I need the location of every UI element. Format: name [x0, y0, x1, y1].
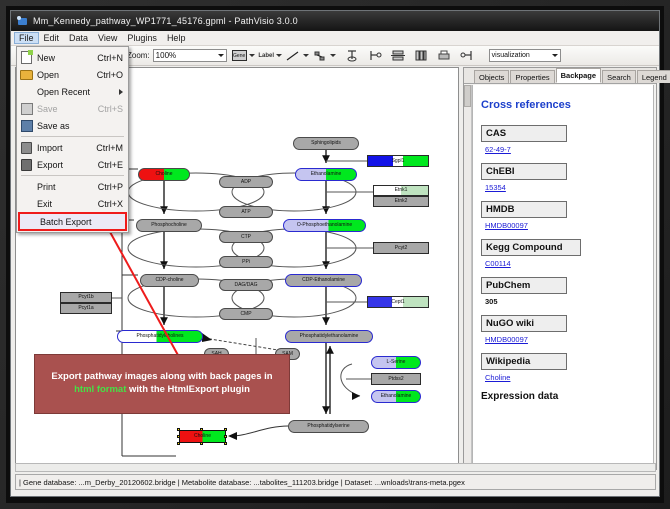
- blank-icon: [19, 85, 34, 98]
- printer-icon: [437, 49, 451, 62]
- gene-etnk1[interactable]: Etnk1: [373, 185, 429, 196]
- xref-header-kegg-compound: Kegg Compound: [481, 239, 581, 256]
- selection-handle[interactable]: [224, 442, 227, 445]
- menu-item-save-as[interactable]: Save as: [17, 117, 128, 134]
- open-folder-icon: [19, 68, 34, 81]
- interaction-icon: [313, 50, 327, 62]
- node-atp[interactable]: ATP: [219, 206, 273, 218]
- tab-objects[interactable]: Objects: [474, 70, 509, 83]
- node-phosphatidylserine[interactable]: Phosphatidylserine: [288, 420, 369, 433]
- menu-item-export-label: Export: [34, 160, 98, 170]
- menu-item-import[interactable]: Import Ctrl+M: [17, 139, 128, 156]
- visualization-combobox[interactable]: visualization: [489, 49, 561, 62]
- menu-item-save-label: Save: [34, 104, 98, 114]
- node-ethanolamine[interactable]: Ethanolamine: [295, 168, 357, 181]
- menu-item-export-accel: Ctrl+E: [98, 160, 128, 170]
- xref-value-chebi[interactable]: 15354: [485, 183, 645, 192]
- label-chevron[interactable]: [275, 48, 281, 63]
- menu-item-save: Save Ctrl+S: [17, 100, 128, 117]
- menu-item-open-recent-label: Open Recent: [34, 87, 119, 97]
- export-icon: [19, 158, 34, 171]
- backpage-content: Cross references CAS 62-49-7 ChEBI 15354…: [472, 85, 654, 468]
- cross-references-title: Cross references: [481, 99, 645, 111]
- chevron-down-icon: [330, 54, 336, 57]
- line-chevron[interactable]: [302, 48, 308, 63]
- tab-legend[interactable]: Legend: [637, 70, 670, 83]
- menu-item-exit[interactable]: Exit Ctrl+X: [17, 195, 128, 212]
- xref-header-nugo-wiki: NuGO wiki: [481, 315, 567, 332]
- screenshot-root: Mm_Kennedy_pathway_WP1771_45176.gpml - P…: [0, 0, 670, 509]
- gene-pcyt1a[interactable]: Pcyt1a: [60, 303, 112, 314]
- xref-header-pubchem: PubChem: [481, 277, 567, 294]
- interaction-chevron[interactable]: [329, 48, 335, 63]
- zoom-label: Zoom:: [127, 51, 150, 60]
- blank-icon: [19, 197, 34, 210]
- window-title: Mm_Kennedy_pathway_WP1771_45176.gpml - P…: [33, 16, 298, 26]
- xref-value-cas[interactable]: 62-49-7: [485, 145, 645, 154]
- menu-item-exit-label: Exit: [34, 199, 98, 209]
- align-right-icon: [460, 49, 474, 62]
- gene-sgpl1[interactable]: Sgpl1: [367, 155, 429, 167]
- menu-item-open-accel: Ctrl+O: [97, 70, 128, 80]
- menu-item-new-accel: Ctrl+N: [97, 53, 128, 63]
- distribute-vertical-icon: [391, 49, 405, 62]
- node-ctp[interactable]: CTP: [219, 231, 273, 243]
- blank-icon: [22, 215, 37, 228]
- menu-plugins[interactable]: Plugins: [122, 32, 162, 44]
- xref-header-cas: CAS: [481, 125, 567, 142]
- menu-item-import-label: Import: [34, 143, 96, 153]
- distribute-vertical-button[interactable]: [391, 48, 406, 63]
- status-bar: | Gene database: ...m_Derby_20120602.bri…: [15, 474, 656, 490]
- xref-header-hmdb: HMDB: [481, 201, 567, 218]
- interaction-dropdown-button[interactable]: [313, 48, 328, 63]
- node-cdp-choline[interactable]: CDP-choline: [140, 274, 199, 287]
- same-width-button[interactable]: [414, 48, 429, 63]
- chevron-down-icon: [303, 54, 309, 57]
- align-left-icon: [368, 49, 382, 62]
- node-dag[interactable]: DAG/DAG: [219, 279, 273, 291]
- selection-handle[interactable]: [224, 435, 227, 438]
- node-cdp-ethanolamine[interactable]: CDP-Ethanolamine: [285, 274, 362, 287]
- selection-handle[interactable]: [224, 428, 227, 431]
- save-as-icon: [19, 119, 34, 132]
- print-button[interactable]: [437, 48, 452, 63]
- gene-etnk2[interactable]: Etnk2: [373, 196, 429, 207]
- side-panel-tabs: Objects Properties Backpage Search Legen…: [464, 68, 656, 84]
- menu-view[interactable]: View: [93, 32, 122, 44]
- import-icon: [19, 141, 34, 154]
- menu-item-new[interactable]: New Ctrl+N: [17, 49, 128, 66]
- gene-icon: Gene: [232, 50, 247, 61]
- title-bar: Mm_Kennedy_pathway_WP1771_45176.gpml - P…: [11, 11, 659, 31]
- node-phosphocholine[interactable]: Phosphocholine: [136, 219, 202, 232]
- tab-backpage[interactable]: Backpage: [556, 68, 601, 83]
- chevron-down-icon: [276, 54, 282, 57]
- gene-cept1[interactable]: Cept1: [367, 296, 429, 308]
- xref-value-hmdb[interactable]: HMDB00097: [485, 221, 645, 230]
- node-ethanolamine-bottom[interactable]: Ethanolamine: [371, 390, 421, 403]
- callout-text-after: with the HtmlExport plugin: [126, 384, 250, 395]
- pathvisio-icon: [17, 16, 28, 27]
- xref-header-wikipedia: Wikipedia: [481, 353, 567, 370]
- new-document-icon: [19, 51, 34, 64]
- menu-item-save-as-label: Save as: [34, 121, 123, 131]
- expression-data-title: Expression data: [481, 391, 645, 402]
- menu-help[interactable]: Help: [162, 32, 191, 44]
- align-top-button[interactable]: [345, 48, 360, 63]
- gene-pcyt1b[interactable]: Pcyt1b: [60, 292, 112, 303]
- chevron-down-icon: [218, 54, 224, 57]
- menu-separator: [21, 175, 124, 176]
- same-width-icon: [414, 49, 428, 62]
- side-panel: Objects Properties Backpage Search Legen…: [463, 67, 657, 470]
- file-menu-dropdown[interactable]: New Ctrl+N Open Ctrl+O Open Recent Save …: [16, 46, 129, 233]
- node-ppi[interactable]: PPi: [219, 256, 273, 268]
- align-right-button[interactable]: [460, 48, 475, 63]
- chevron-down-icon: [249, 54, 255, 57]
- status-text: | Gene database: ...m_Derby_20120602.bri…: [19, 478, 465, 487]
- menu-bar: File Edit Data View Plugins Help: [11, 31, 659, 46]
- menu-item-new-label: New: [34, 53, 97, 63]
- line-dropdown-button[interactable]: [286, 48, 301, 63]
- scrollbar-thumb[interactable]: [464, 85, 471, 107]
- datanode-dropdown-button[interactable]: Gene: [232, 48, 247, 63]
- node-cmp[interactable]: CMP: [219, 308, 273, 320]
- save-icon: [19, 102, 34, 115]
- menu-file[interactable]: File: [14, 32, 39, 44]
- gene-ptdss2[interactable]: Ptdss2: [371, 373, 421, 385]
- blank-icon: [19, 180, 34, 193]
- xref-value-pubchem: 305: [485, 297, 645, 306]
- menu-item-print[interactable]: Print Ctrl+P: [17, 178, 128, 195]
- zoom-combobox[interactable]: 100%: [153, 49, 227, 62]
- menu-item-batch-export[interactable]: Batch Export: [18, 212, 127, 231]
- node-phosphatidylcholines[interactable]: Phosphatidylcholines: [117, 330, 203, 343]
- annotation-callout: Export pathway images along with back pa…: [34, 354, 290, 414]
- selection-handle[interactable]: [177, 442, 180, 445]
- menu-item-export[interactable]: Export Ctrl+E: [17, 156, 128, 173]
- node-l-serine[interactable]: L-Serine: [371, 356, 421, 369]
- node-choline-top[interactable]: Choline: [138, 168, 190, 181]
- side-panel-scrollbar[interactable]: [464, 85, 472, 468]
- menu-item-print-label: Print: [34, 182, 98, 192]
- menu-item-exit-accel: Ctrl+X: [98, 199, 128, 209]
- node-adp[interactable]: ADP: [219, 176, 273, 188]
- line-icon: [286, 50, 300, 62]
- menu-item-print-accel: Ctrl+P: [98, 182, 128, 192]
- gene-pcyt2[interactable]: Pcyt2: [373, 242, 429, 254]
- chevron-down-icon: [552, 54, 558, 57]
- xref-value-nugo-wiki[interactable]: HMDB00097: [485, 335, 645, 344]
- label-icon: Label: [258, 53, 274, 59]
- visualization-value: visualization: [492, 52, 530, 59]
- selection-handle[interactable]: [177, 435, 180, 438]
- node-phosphatidylethanolamine[interactable]: Phosphatidylethanolamine: [285, 330, 373, 343]
- label-dropdown-button[interactable]: Label: [259, 48, 274, 63]
- canvas-horizontal-scrollbar[interactable]: [15, 463, 656, 472]
- xref-value-kegg-compound[interactable]: C00114: [485, 259, 645, 268]
- pathvisio-application-window: Mm_Kennedy_pathway_WP1771_45176.gpml - P…: [10, 10, 660, 497]
- zoom-value: 100%: [156, 51, 176, 60]
- menu-edit[interactable]: Edit: [39, 32, 65, 44]
- xref-value-wikipedia[interactable]: Choline: [485, 373, 645, 382]
- tab-properties[interactable]: Properties: [510, 70, 554, 83]
- callout-text-before: Export pathway images along with back pa…: [51, 371, 272, 382]
- menu-item-batch-export-label: Batch Export: [37, 217, 125, 227]
- menu-item-save-accel: Ctrl+S: [98, 104, 128, 114]
- menu-separator: [21, 136, 124, 137]
- selection-handle[interactable]: [200, 442, 203, 445]
- tab-search[interactable]: Search: [602, 70, 636, 83]
- xref-header-chebi: ChEBI: [481, 163, 567, 180]
- align-top-icon: [345, 49, 359, 62]
- selection-handle[interactable]: [177, 428, 180, 431]
- node-sphingolipids[interactable]: Sphingolipids: [293, 137, 359, 150]
- menu-item-open-recent[interactable]: Open Recent: [17, 83, 128, 100]
- align-left-button[interactable]: [368, 48, 383, 63]
- menu-item-import-accel: Ctrl+M: [96, 143, 128, 153]
- menu-item-open[interactable]: Open Ctrl+O: [17, 66, 128, 83]
- callout-highlight: html format: [74, 384, 126, 395]
- menu-data[interactable]: Data: [64, 32, 93, 44]
- node-o-phosphoethanolamine[interactable]: O-Phosphoethanolamine: [283, 219, 366, 232]
- datanode-chevron[interactable]: [248, 48, 254, 63]
- selection-handle[interactable]: [200, 428, 203, 431]
- menu-item-open-label: Open: [34, 70, 97, 80]
- submenu-arrow-icon: [119, 89, 123, 95]
